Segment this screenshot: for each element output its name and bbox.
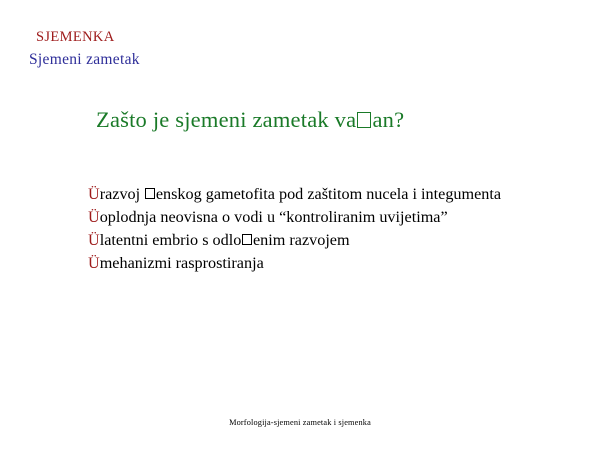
bullet-marker-icon: Ü [88,208,100,226]
bullet-text-after: enskog gametofita pod zaštitom nucela i … [156,185,501,203]
slide-footer: Morfologija-sjemeni zametak i sjemenka [0,418,600,427]
bullet-list: Ürazvoj enskog gametofita pod zaštitom n… [88,183,518,275]
bullet-text-after: enim razvojem [253,231,350,249]
list-item: Ülatentni embrio s odloenim razvojem [88,229,518,252]
missing-glyph-box-icon [242,234,252,245]
missing-glyph-box-icon [145,188,155,199]
bullet-text-before: latentni embrio s odlo [100,231,242,249]
question-text-after: an? [372,107,404,132]
list-item: Üoplodnja neovisna o vodi u “kontroliran… [88,206,518,229]
slide-question-heading: Zašto je sjemeni zametak vaan? [96,106,404,134]
slide-header: SJEMENKA Sjemeni zametak [29,26,549,72]
bullet-text-before: oplodnja neovisna o vodi u “kontrolirani… [100,208,448,226]
bullet-marker-icon: Ü [88,254,100,272]
header-title: SJEMENKA [36,26,549,48]
bullet-marker-icon: Ü [88,185,100,203]
missing-glyph-box-icon [357,112,371,128]
bullet-text-before: razvoj [100,185,145,203]
list-item: Ürazvoj enskog gametofita pod zaštitom n… [88,183,518,206]
header-subtitle: Sjemeni zametak [29,48,549,71]
list-item: Ümehanizmi rasprostiranja [88,252,518,275]
question-text-before: Zašto je sjemeni zametak va [96,107,356,132]
bullet-text-before: mehanizmi rasprostiranja [100,254,264,272]
bullet-marker-icon: Ü [88,231,100,249]
presentation-slide: SJEMENKA Sjemeni zametak Zašto je sjemen… [0,0,600,450]
